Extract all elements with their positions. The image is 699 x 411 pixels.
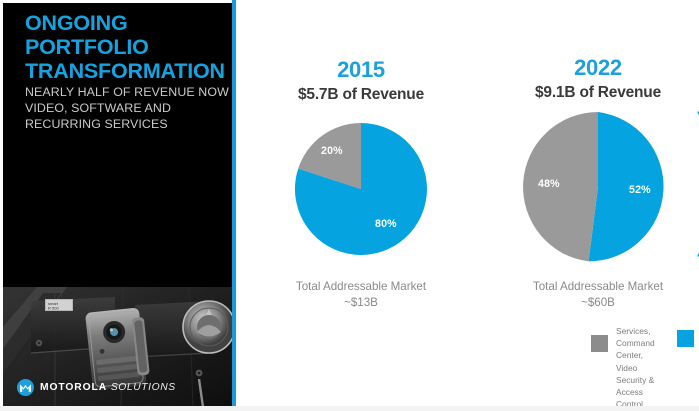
subheadline: NEARLY HALF OF REVENUE NOW VIDEO, SOFTWA… [25,85,229,133]
chart-2015-pie [294,122,428,256]
chart-2022-year: 2022 [538,55,658,81]
motorola-batwing-icon [17,379,34,396]
chart-2015-tam-title: Total Addressable Market [296,280,426,293]
slide-root: ONGOING PORTFOLIO TRANSFORMATION NEARLY … [0,0,699,411]
chart-2015-revenue: $5.7B of Revenue [271,86,451,104]
chart-2022-gray-pct: 48% [538,178,560,190]
headline-line-3: TRANSFORMATION [25,59,230,83]
logo-motorola: MOTOROLA [40,382,107,393]
chart-2022-blue-pct: 52% [629,184,651,196]
motorola-solutions-logo: MOTOROLA SOLUTIONS [17,379,176,396]
legend-item-services: Services, Command Center, Video Security… [591,325,655,410]
pie-slice-blue-2022 [589,112,664,261]
logo-solutions: SOLUTIONS [111,382,176,393]
pie-slice-gray-2022 [523,112,598,261]
chart-2015-gray-pct: 20% [321,145,343,157]
chart-2015-blue-pct: 80% [375,218,397,230]
legend-swatch-gray-icon [591,335,608,352]
chart-2022-revenue: $9.1B of Revenue [508,84,688,102]
chart-2015-tam-value: ~$13B [246,295,476,311]
legend-label-services: Services, Command Center, Video Security… [616,325,655,410]
title-panel: ONGOING PORTFOLIO TRANSFORMATION NEARLY … [3,3,232,406]
logo-wordmark: MOTOROLA SOLUTIONS [40,382,176,393]
content-area: 2015 $5.7B of Revenue 20% 80% Total Addr… [236,0,699,411]
headline-line-1: ONGOING [25,11,230,35]
bottom-edge-strip [0,406,699,411]
transition-chevron-icon [694,105,699,265]
chart-2022-tam-title: Total Addressable Market [533,280,663,293]
chart-legend: Services, Command Center, Video Security… [591,325,699,410]
legend-item-lmr: LMR Products and Systems Integration [677,325,699,388]
chart-2022-tam: Total Addressable Market ~$60B [483,279,699,311]
chart-2022-tam-value: ~$60B [483,295,699,311]
legend-swatch-blue-icon [677,330,694,347]
headline-line-2: PORTFOLIO [25,35,230,59]
chart-2015-tam: Total Addressable Market ~$13B [246,279,476,311]
batwing-glyph [19,382,32,393]
page-title: ONGOING PORTFOLIO TRANSFORMATION [25,11,230,83]
chart-2015-year: 2015 [301,57,421,83]
